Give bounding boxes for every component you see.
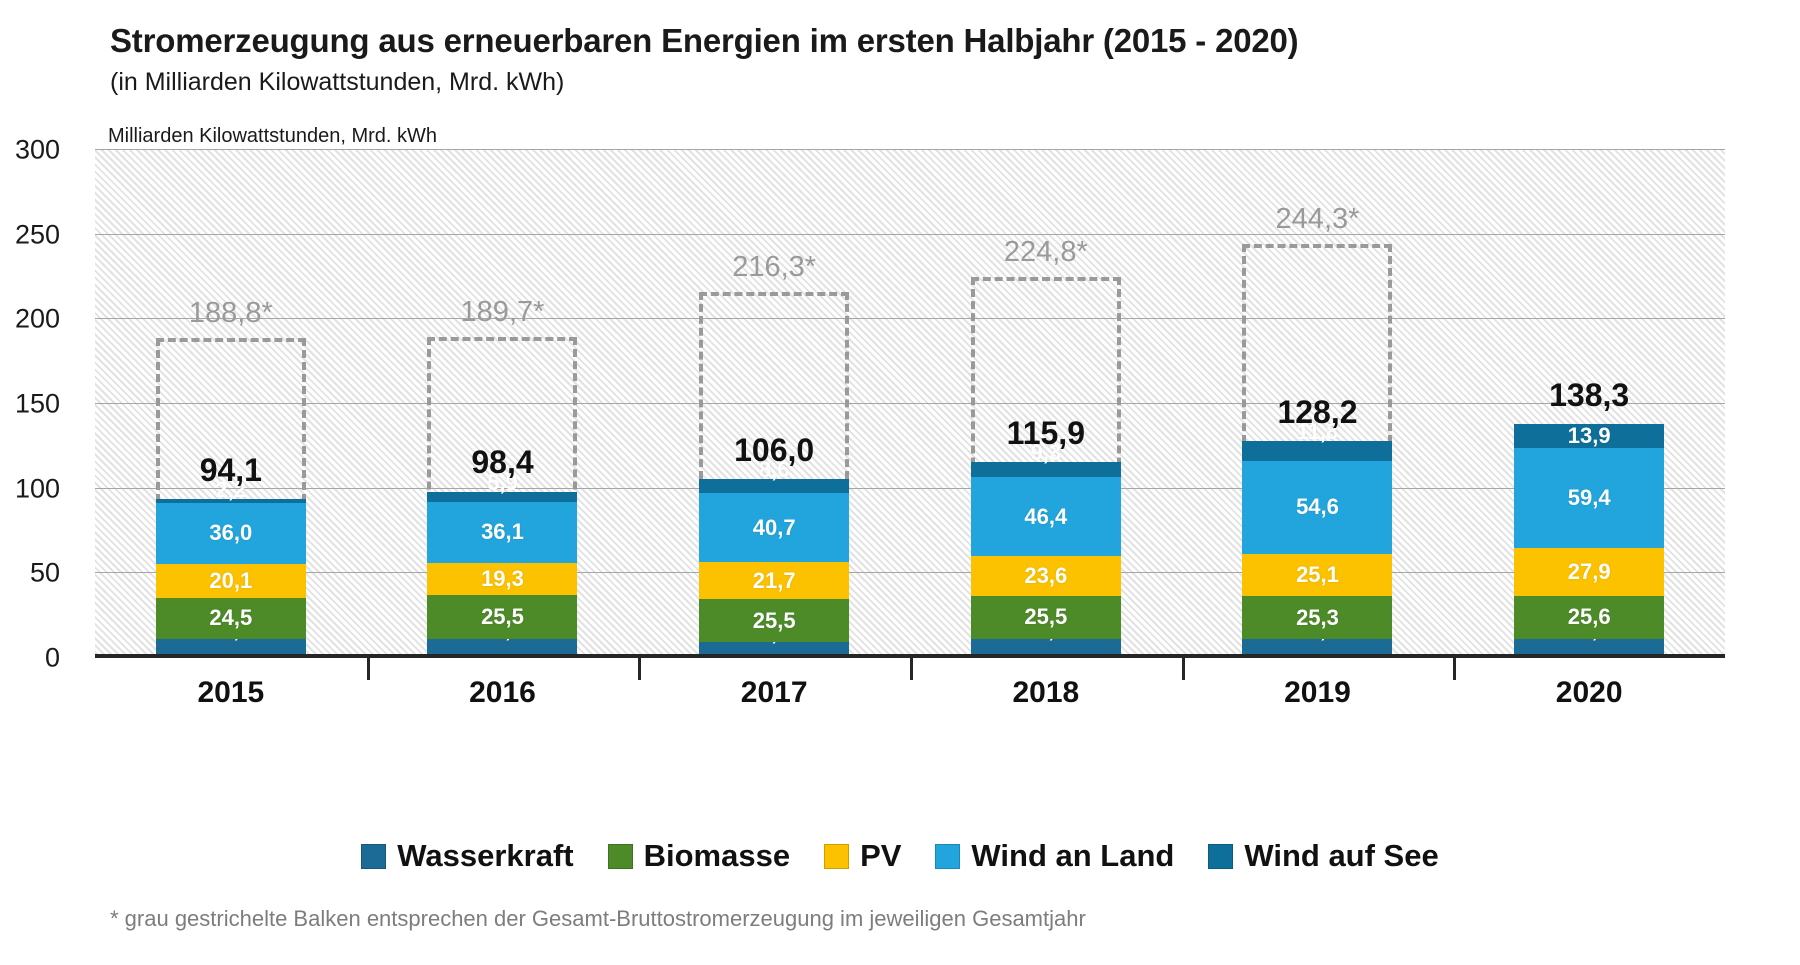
legend-swatch-icon <box>1208 844 1233 869</box>
bar-total-label: 128,2 <box>1277 394 1357 431</box>
x-axis-tick-label: 2020 <box>1556 676 1623 710</box>
bar-segment-value-label: 36,1 <box>481 521 524 543</box>
bar-segment-pv[interactable]: 27,9 <box>1514 548 1664 595</box>
bar-segment-value-label: 59,4 <box>1568 487 1611 509</box>
x-axis-tick-label: 2018 <box>1012 676 1079 710</box>
bar-segment-biomasse[interactable]: 25,6 <box>1514 596 1664 639</box>
stacked-bar[interactable]: 11,225,325,154,611,8 <box>1242 441 1392 658</box>
y-axis-tick-label: 250 <box>0 219 60 250</box>
bar-segment-pv[interactable]: 20,1 <box>156 564 306 598</box>
bar-segment-value-label: 21,7 <box>753 570 796 592</box>
bar-segment-wind-auf-see[interactable]: 2,2 <box>156 499 306 503</box>
legend-swatch-icon <box>608 844 633 869</box>
x-axis: 201520162017201820192020 <box>95 658 1725 720</box>
bar-segment-wind-an-land[interactable]: 54,6 <box>1242 461 1392 553</box>
legend-item-label: Wind auf See <box>1244 838 1438 874</box>
bar-segment-value-label: 23,6 <box>1024 565 1067 587</box>
annual-total-label: 244,3* <box>1276 203 1360 236</box>
bar-group[interactable]: 11,325,627,959,413,9138,3 <box>1453 150 1725 658</box>
bar-segment-value-label: 25,5 <box>1024 606 1067 628</box>
y-axis-tick-label: 50 <box>0 558 60 589</box>
bar-segment-value-label: 40,7 <box>753 517 796 539</box>
x-axis-tick-label: 2019 <box>1284 676 1351 710</box>
bar-segment-pv[interactable]: 25,1 <box>1242 554 1392 597</box>
bar-group[interactable]: 188,8*11,224,520,136,02,294,1 <box>95 150 367 658</box>
annual-total-label: 224,8* <box>1004 236 1088 269</box>
bar-segment-biomasse[interactable]: 25,5 <box>971 596 1121 639</box>
y-axis-tick-label: 200 <box>0 304 60 335</box>
bar-segment-wind-auf-see[interactable]: 13,9 <box>1514 424 1664 448</box>
bar-segment-biomasse[interactable]: 25,5 <box>427 595 577 638</box>
bar-segment-biomasse[interactable]: 25,3 <box>1242 596 1392 639</box>
bar-segment-wind-auf-see[interactable]: 5,9 <box>427 492 577 502</box>
bar-group[interactable]: 244,3*11,225,325,154,611,8128,2 <box>1182 150 1454 658</box>
bar-segment-biomasse[interactable]: 24,5 <box>156 598 306 639</box>
bar-group[interactable]: 224,8*11,225,523,646,49,3115,9 <box>910 150 1182 658</box>
y-axis-tick-label: 300 <box>0 135 60 166</box>
legend-swatch-icon <box>361 844 386 869</box>
bar-segment-pv[interactable]: 21,7 <box>699 562 849 599</box>
x-axis-tick-label: 2016 <box>469 676 536 710</box>
bar-segment-wind-an-land[interactable]: 36,0 <box>156 503 306 564</box>
annual-total-label: 216,3* <box>732 251 816 284</box>
y-axis-tick-label: 100 <box>0 473 60 504</box>
y-axis-tick-label: 150 <box>0 389 60 420</box>
legend-swatch-icon <box>935 844 960 869</box>
x-axis-tick-mark <box>1182 658 1185 680</box>
stacked-bar[interactable]: 11,225,523,646,49,3 <box>971 462 1121 658</box>
bar-segment-value-label: 54,6 <box>1296 496 1339 518</box>
bar-segment-value-label: 13,9 <box>1568 425 1611 447</box>
bar-segment-biomasse[interactable]: 25,5 <box>699 599 849 642</box>
bar-segment-value-label: 25,3 <box>1296 607 1339 629</box>
legend-item-label: Wasserkraft <box>397 838 573 874</box>
bar-segment-value-label: 20,1 <box>209 570 252 592</box>
plot-area: 188,8*11,224,520,136,02,294,1189,7*11,52… <box>95 150 1725 658</box>
bar-segment-value-label: 25,1 <box>1296 564 1339 586</box>
x-axis-tick-label: 2015 <box>197 676 264 710</box>
bar-total-label: 94,1 <box>200 452 262 489</box>
bar-total-label: 138,3 <box>1549 377 1629 414</box>
stacked-bar[interactable]: 9,425,521,740,78,6 <box>699 479 849 658</box>
bar-segment-value-label: 25,5 <box>481 606 524 628</box>
bar-group[interactable]: 189,7*11,525,519,336,15,998,4 <box>367 150 639 658</box>
legend-item-label: Wind an Land <box>971 838 1174 874</box>
stacked-bar[interactable]: 11,325,627,959,413,9 <box>1514 424 1664 658</box>
bar-segment-pv[interactable]: 23,6 <box>971 556 1121 596</box>
legend-item-biomasse[interactable]: Biomasse <box>608 838 790 874</box>
bar-segment-wind-an-land[interactable]: 59,4 <box>1514 448 1664 549</box>
legend-item-wind-an-land[interactable]: Wind an Land <box>935 838 1174 874</box>
legend-item-label: PV <box>860 838 901 874</box>
stacked-bar[interactable]: 11,224,520,136,02,2 <box>156 499 306 658</box>
legend-item-wasserkraft[interactable]: Wasserkraft <box>361 838 573 874</box>
y-axis-tick-label: 0 <box>0 643 60 674</box>
legend-item-label: Biomasse <box>644 838 790 874</box>
chart-footnote: * grau gestrichelte Balken entsprechen d… <box>110 906 1086 932</box>
bar-segment-wind-an-land[interactable]: 40,7 <box>699 493 849 562</box>
bar-segment-value-label: 27,9 <box>1568 561 1611 583</box>
chart-subtitle: (in Milliarden Kilowattstunden, Mrd. kWh… <box>110 68 564 97</box>
legend-item-wind-auf-see[interactable]: Wind auf See <box>1208 838 1438 874</box>
bar-total-label: 106,0 <box>734 432 814 469</box>
bar-total-label: 115,9 <box>1007 415 1085 452</box>
legend-swatch-icon <box>824 844 849 869</box>
bar-segment-wind-an-land[interactable]: 36,1 <box>427 502 577 563</box>
bar-segment-wind-an-land[interactable]: 46,4 <box>971 477 1121 556</box>
bar-segment-value-label: 25,5 <box>753 610 796 632</box>
bar-segment-wind-auf-see[interactable]: 9,3 <box>971 462 1121 478</box>
annual-total-label: 189,7* <box>461 296 545 329</box>
x-axis-tick-mark <box>910 658 913 680</box>
y-axis-caption: Milliarden Kilowattstunden, Mrd. kWh <box>108 125 437 148</box>
x-axis-tick-mark <box>638 658 641 680</box>
annual-total-label: 188,8* <box>189 297 273 330</box>
chart-legend: WasserkraftBiomassePVWind an LandWind au… <box>0 838 1800 874</box>
bar-segment-value-label: 24,5 <box>209 607 252 629</box>
chart-title: Stromerzeugung aus erneuerbaren Energien… <box>110 22 1298 60</box>
bar-segment-wind-auf-see[interactable]: 8,6 <box>699 479 849 494</box>
bar-group[interactable]: 216,3*9,425,521,740,78,6106,0 <box>638 150 910 658</box>
bar-segment-value-label: 46,4 <box>1024 506 1067 528</box>
x-axis-tick-label: 2017 <box>741 676 808 710</box>
bar-segment-value-label: 36,0 <box>209 522 252 544</box>
x-axis-tick-mark <box>1453 658 1456 680</box>
x-axis-tick-mark <box>367 658 370 680</box>
stacked-bar[interactable]: 11,525,519,336,15,9 <box>427 492 577 658</box>
bar-segment-pv[interactable]: 19,3 <box>427 563 577 596</box>
bar-segment-value-label: 25,6 <box>1568 606 1611 628</box>
bar-total-label: 98,4 <box>471 444 533 481</box>
bar-segment-value-label: 19,3 <box>481 568 524 590</box>
bar-segment-wind-auf-see[interactable]: 11,8 <box>1242 441 1392 461</box>
legend-item-pv[interactable]: PV <box>824 838 901 874</box>
